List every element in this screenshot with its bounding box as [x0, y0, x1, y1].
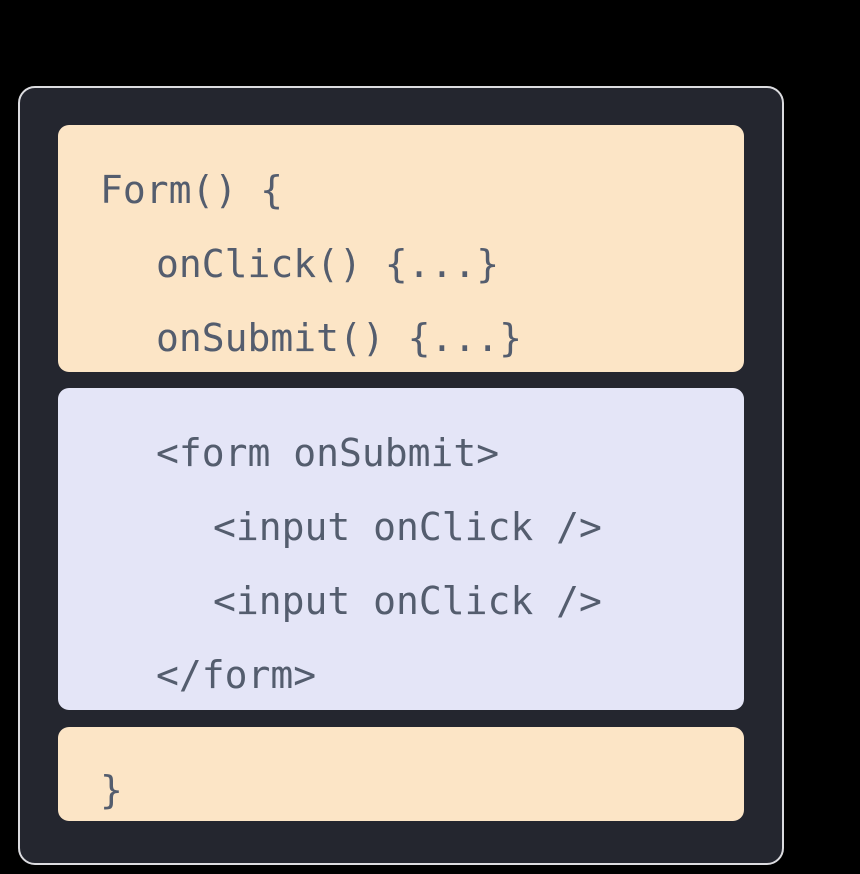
code-line: } [58, 753, 744, 821]
code-panel-scope-open: Form() { onClick() {...} onSubmit() {...… [58, 125, 744, 372]
screenshot-canvas: Form() { onClick() {...} onSubmit() {...… [0, 0, 860, 874]
code-panel-scope-close: } [58, 727, 744, 821]
code-line: <form onSubmit> [58, 416, 744, 490]
code-line: </form> [58, 638, 744, 710]
code-line: onSubmit() {...} [58, 301, 744, 372]
code-panel-markup: <form onSubmit> <input onClick /> <input… [58, 388, 744, 710]
code-card: Form() { onClick() {...} onSubmit() {...… [18, 86, 784, 865]
code-line: Form() { [58, 153, 744, 227]
code-line: <input onClick /> [58, 490, 744, 564]
code-line: onClick() {...} [58, 227, 744, 301]
code-line: <input onClick /> [58, 564, 744, 638]
